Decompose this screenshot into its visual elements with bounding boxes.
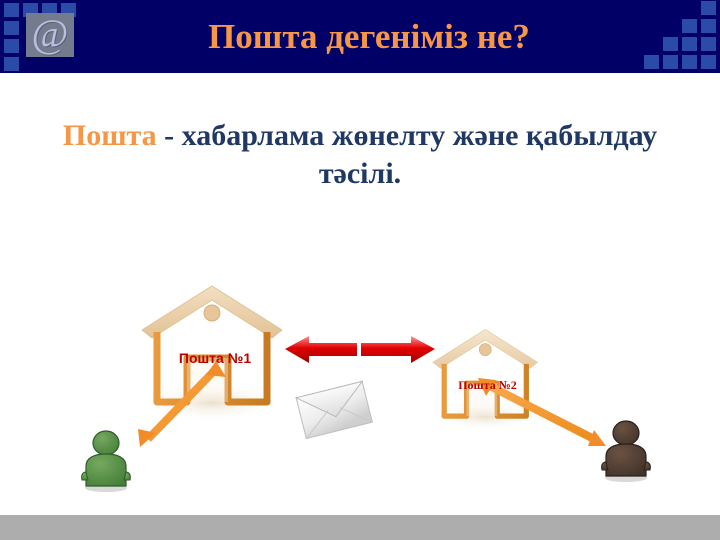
diagram-scene: Пошта №1 <box>0 255 720 505</box>
page-title: Пошта дегеніміз не? <box>0 0 720 73</box>
definition-text: Пошта - хабарлама жөнелту және қабылдау … <box>60 117 660 193</box>
house-left-label: Пошта №1 <box>140 350 290 366</box>
slide-canvas: @ Пошта дегеніміз не? Пошта - хабарлама … <box>0 0 720 540</box>
person-left-graphic <box>78 430 134 492</box>
person-right-graphic <box>598 420 654 482</box>
person-icon-left <box>78 430 134 497</box>
double-headed-arrow-icon-left <box>128 355 238 460</box>
footer-bar <box>0 515 720 540</box>
house-right-label: Пошта №2 <box>430 378 545 393</box>
definition-body: - хабарлама жөнелту және қабылдау тәсілі… <box>157 119 657 190</box>
double-headed-arrow-icon-center <box>283 330 437 375</box>
slide-header: @ Пошта дегеніміз не? <box>0 0 720 73</box>
envelope-icon <box>292 375 376 448</box>
definition-term: Пошта <box>63 119 157 152</box>
orange-arrow-left-graphic <box>128 355 238 455</box>
envelope-graphic <box>292 375 376 443</box>
person-icon-right <box>598 420 654 487</box>
red-arrow-graphic <box>283 330 437 370</box>
